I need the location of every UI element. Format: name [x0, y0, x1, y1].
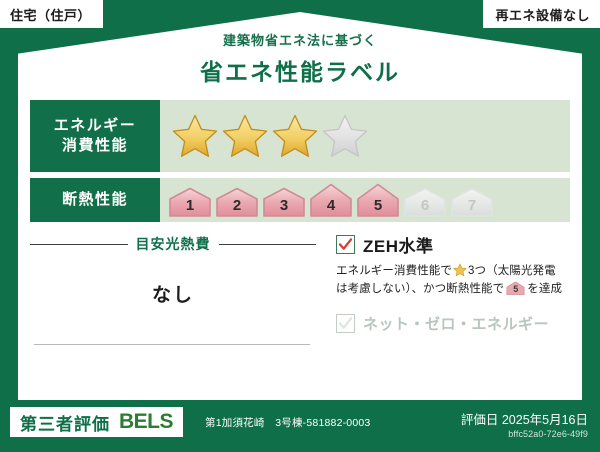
tag-renewable-energy-label: 再エネ設備なし: [495, 5, 590, 24]
bels-en-label: BELS: [119, 410, 173, 434]
insulation-grade-number: 1: [168, 197, 212, 214]
zeh-title: ZEH水準: [363, 232, 434, 257]
net-zero-energy-label: ネット・ゼロ・エネルギー: [363, 313, 549, 334]
zeh-checkbox-row[interactable]: ZEH水準: [336, 232, 570, 257]
insulation-grade-4: 4: [309, 183, 353, 217]
tag-renewable-energy: 再エネ設備なし: [483, 0, 600, 28]
zeh-desc-part3: は考慮しない）、かつ断熱性能で: [336, 283, 504, 295]
net-zero-energy-checkbox[interactable]: [336, 314, 355, 333]
header-subtitle: 建築物省エネ法に基づく: [18, 30, 582, 49]
star-rating: [172, 113, 368, 159]
tag-building-type: 住宅（住戸）: [0, 0, 103, 28]
insulation-grade-number: 7: [450, 197, 494, 214]
certificate-id: bffc52a0-72e6-49f9: [508, 429, 588, 439]
insulation-grade-3: 3: [262, 187, 306, 217]
utility-cost-value: なし: [30, 280, 316, 307]
insulation-performance-label-text: 断熱性能: [62, 190, 128, 210]
rule-right: [219, 244, 317, 245]
evaluation-date: 評価日 2025年5月16日: [461, 409, 588, 428]
energy-performance-label-line1: エネルギー: [54, 116, 137, 136]
check-icon: [338, 237, 353, 252]
bels-badge: 第三者評価 BELS: [10, 407, 183, 437]
insulation-grade-6: 6: [403, 187, 447, 217]
utility-cost-block: 目安光熱費 なし: [30, 232, 330, 382]
page-title: 省エネ性能ラベル: [18, 53, 582, 87]
utility-cost-heading-text: 目安光熱費: [136, 234, 211, 254]
zeh-desc-part1: エネルギー消費性能で: [336, 265, 452, 277]
insulation-grade-scale: 1234567: [168, 183, 494, 217]
star-icon-filled: [172, 113, 218, 159]
header-titles: 建築物省エネ法に基づく 省エネ性能ラベル: [18, 30, 582, 87]
star-icon-inline: [453, 263, 467, 277]
star-icon-filled: [272, 113, 318, 159]
insulation-grade-number: 4: [309, 197, 353, 214]
tag-building-type-label: 住宅（住戸）: [10, 5, 91, 24]
insulation-performance-label: 断熱性能: [30, 178, 160, 222]
energy-label-card: 住宅（住戸） 再エネ設備なし 建築物省エネ法に基づく 省エネ性能ラベル エネルギ…: [0, 0, 600, 452]
utility-cost-divider: [34, 344, 310, 345]
rule-left: [30, 244, 128, 245]
insulation-performance-value: 1234567: [160, 178, 570, 222]
check-icon-disabled: [338, 316, 353, 331]
star-icon-filled: [222, 113, 268, 159]
zeh-desc-part4: を達成: [527, 283, 562, 295]
energy-performance-value: [160, 100, 570, 172]
insulation-grade-number: 2: [215, 197, 259, 214]
insulation-grade-number: 5: [356, 197, 400, 214]
zeh-desc-part2: 3つ（太陽光発電: [468, 265, 556, 277]
insulation-grade-number: 6: [403, 197, 447, 214]
utility-cost-heading: 目安光熱費: [30, 234, 316, 254]
insulation-grade-2: 2: [215, 187, 259, 217]
house-icon-inline: 5: [506, 280, 525, 296]
insulation-grade-5: 5: [356, 183, 400, 217]
building-identifier: 第1加須花崎 3号棟-581882-0003: [205, 415, 370, 430]
house-icon-inline-num: 5: [506, 283, 525, 297]
footer-bar: 第三者評価 BELS 第1加須花崎 3号棟-581882-0003 評価日 20…: [0, 400, 600, 452]
lower-section: 目安光熱費 なし ZEH水準 エネルギー消費性能で3つ（太陽光発電: [30, 232, 570, 382]
energy-performance-row: エネルギー 消費性能: [30, 100, 570, 172]
energy-performance-label: エネルギー 消費性能: [30, 100, 160, 172]
label-content: エネルギー 消費性能 断熱性能 1234567 目安光熱費: [30, 100, 570, 392]
energy-performance-label-line2: 消費性能: [62, 136, 128, 156]
insulation-grade-1: 1: [168, 187, 212, 217]
insulation-performance-row: 断熱性能 1234567: [30, 178, 570, 222]
net-zero-energy-row[interactable]: ネット・ゼロ・エネルギー: [336, 313, 570, 334]
zeh-block: ZEH水準 エネルギー消費性能で3つ（太陽光発電 は考慮しない）、かつ断熱性能で…: [330, 232, 570, 382]
bels-jp-label: 第三者評価: [20, 410, 110, 435]
insulation-grade-number: 3: [262, 197, 306, 214]
star-icon-empty: [322, 113, 368, 159]
zeh-checkbox[interactable]: [336, 235, 355, 254]
zeh-description: エネルギー消費性能で3つ（太陽光発電 は考慮しない）、かつ断熱性能で5を達成: [336, 263, 570, 299]
insulation-grade-7: 7: [450, 187, 494, 217]
